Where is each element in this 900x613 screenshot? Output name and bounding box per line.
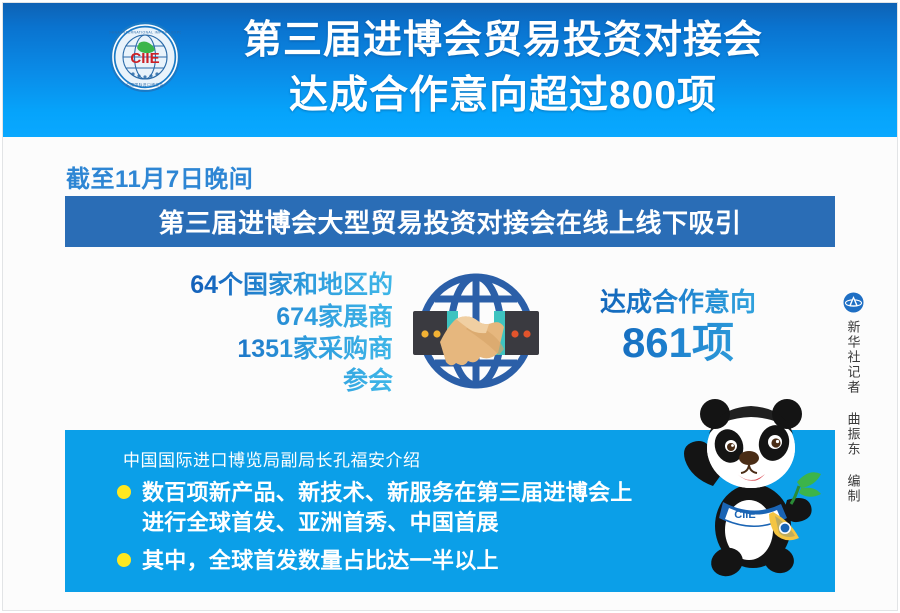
bullet-text: 其中，全球首发数量占比达一半以上	[142, 546, 499, 576]
panda-mascot-jinbao: CIIE	[675, 390, 835, 582]
svg-text:CHINA INTERNATIONAL IMPORT EXP: CHINA INTERNATIONAL IMPORT EXPO	[109, 31, 181, 35]
svg-text:CIIE: CIIE	[734, 509, 755, 521]
participants-line-1: 64个国家和地区的	[113, 269, 393, 301]
poster-title: 第三届进博会贸易投资对接会 达成合作意向超过800项	[193, 13, 813, 123]
cooperation-label: 达成合作意向	[563, 285, 793, 319]
bullet-1-line-1: 数百项新产品、新技术、新服务在第三届进博会上	[142, 478, 633, 508]
bullet-dot-icon	[117, 553, 131, 567]
participants-line-2: 674家展商	[113, 301, 393, 333]
title-line-2: 达成合作意向超过800项	[193, 68, 813, 123]
ciie-logo: CIIE CHINA INTERNATIONAL IMPORT EXPO 中国国…	[109, 21, 181, 93]
xinhua-logo	[843, 292, 864, 313]
bullet-dot-icon	[117, 485, 131, 499]
bullet-1-line-2: 进行全球首发、亚洲首秀、中国首展	[142, 508, 633, 538]
participants-line-4: 参会	[113, 365, 393, 397]
credit-block: 新华社记者 曲振东 编制	[836, 292, 870, 504]
credit-text: 新华社记者 曲振东 编制	[846, 320, 861, 504]
poster-body: 截至11月7日晚间 第三届进博会大型贸易投资对接会在线上线下吸引 64个国家和地…	[3, 137, 897, 610]
bullet-2-line-1: 其中，全球首发数量占比达一半以上	[142, 546, 499, 576]
highlight-banner-text: 第三届进博会大型贸易投资对接会在线上线下吸引	[158, 203, 741, 240]
svg-text:中国国际进口博览会: 中国国际进口博览会	[126, 82, 164, 87]
bullet-text: 数百项新产品、新技术、新服务在第三届进博会上 进行全球首发、亚洲首秀、中国首展	[142, 478, 633, 538]
infographic-poster: CIIE CHINA INTERNATIONAL IMPORT EXPO 中国国…	[0, 0, 900, 613]
date-note: 截至11月7日晚间	[66, 159, 253, 194]
svg-text:CIIE: CIIE	[130, 50, 159, 67]
cooperation-value: 861项	[563, 319, 793, 367]
globe-handshake-icon	[401, 267, 551, 395]
participants-line-3: 1351家采购商	[113, 333, 393, 365]
title-line-1: 第三届进博会贸易投资对接会	[193, 13, 813, 68]
poster-header: CIIE CHINA INTERNATIONAL IMPORT EXPO 中国国…	[3, 3, 897, 137]
panel-source-line: 中国国际进口博览局副局长孔福安介绍	[123, 446, 421, 471]
participants-stat: 64个国家和地区的 674家展商 1351家采购商 参会	[113, 269, 393, 397]
cooperation-stat: 达成合作意向 861项	[563, 285, 793, 367]
highlight-banner: 第三届进博会大型贸易投资对接会在线上线下吸引	[65, 196, 835, 247]
